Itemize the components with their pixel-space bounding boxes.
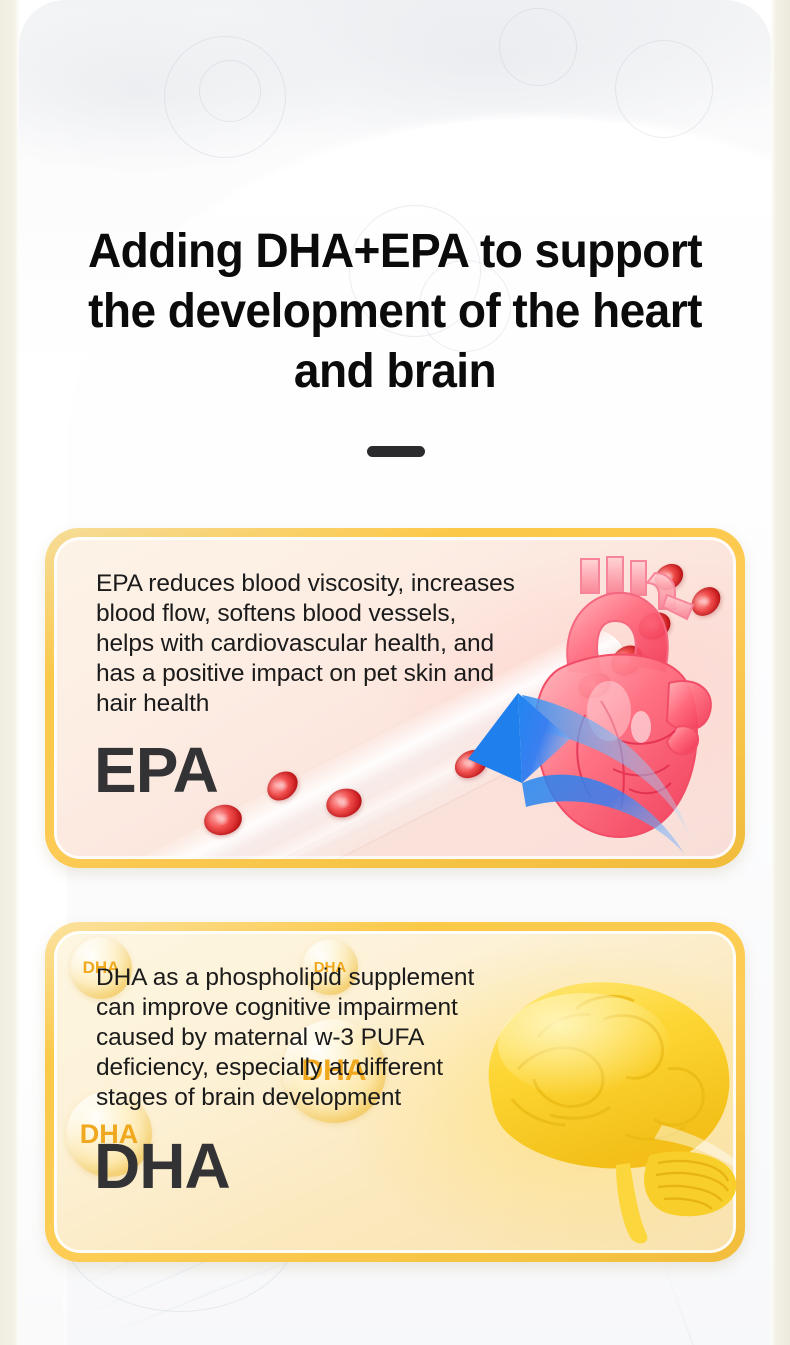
epa-card-inner: EPA reduces blood viscosity, increases b… xyxy=(54,537,736,859)
epa-label: EPA xyxy=(94,733,218,807)
red-blood-cell-icon xyxy=(450,744,492,784)
red-blood-cell-icon xyxy=(634,607,675,645)
bubble-watermark xyxy=(615,40,713,138)
title-divider xyxy=(367,446,425,457)
bubble-watermark xyxy=(499,8,577,86)
red-blood-cell-icon xyxy=(650,559,688,596)
promo-page: Adding DHA+EPA to support the developmen… xyxy=(0,0,790,1345)
red-blood-cell-icon xyxy=(686,581,726,621)
dha-label: DHA xyxy=(94,1129,230,1203)
red-blood-cell-icon xyxy=(323,784,366,822)
red-blood-cell-icon xyxy=(575,668,615,703)
heart-icon xyxy=(509,551,736,851)
page-title: Adding DHA+EPA to support the developmen… xyxy=(16,222,774,402)
epa-description: EPA reduces blood viscosity, increases b… xyxy=(96,569,536,719)
dha-card-inner: DHA DHA DHA DHA DHA as a phospholipid su… xyxy=(54,931,736,1253)
dha-card[interactable]: DHA DHA DHA DHA DHA as a phospholipid su… xyxy=(45,922,745,1262)
red-blood-cell-icon xyxy=(605,639,648,682)
bubble-watermark xyxy=(199,60,261,122)
dha-description: DHA as a phospholipid supplement can imp… xyxy=(96,963,536,1113)
red-blood-cell-icon xyxy=(262,765,304,806)
epa-card[interactable]: EPA reduces blood viscosity, increases b… xyxy=(45,528,745,868)
